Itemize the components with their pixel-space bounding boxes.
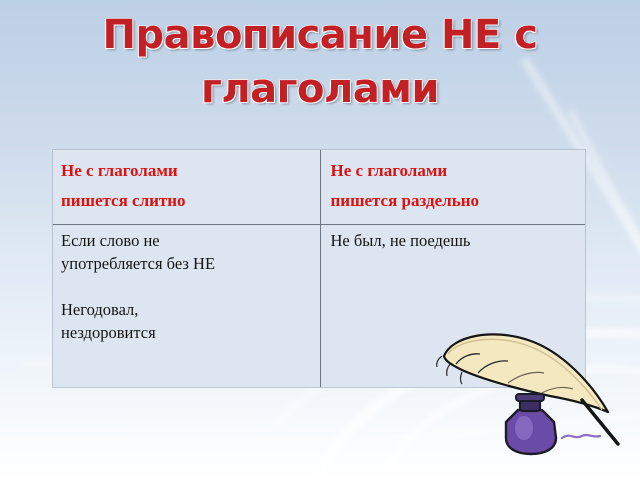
table-cell-text: Если слово не употребляется без НЕ Негод… bbox=[61, 229, 320, 344]
table-header-cell-razdelno: Не с глаголами пишется раздельно bbox=[320, 150, 585, 225]
comparison-table: Не с глаголами пишется слитно Не с глаго… bbox=[53, 150, 585, 387]
table-header-label: Не с глаголами пишется раздельно bbox=[331, 156, 586, 216]
feather-barb-icon bbox=[540, 387, 573, 394]
inkwell-icon bbox=[506, 410, 556, 454]
background-streak-icon bbox=[390, 404, 640, 444]
table-row: Если слово не употребляется без НЕ Негод… bbox=[53, 225, 585, 388]
table-cell-rule-razdelno: Не был, не поедешь bbox=[320, 225, 585, 388]
inkwell-highlight-icon bbox=[515, 416, 533, 440]
table-header-cell-slitno: Не с глаголами пишется слитно bbox=[53, 150, 320, 225]
inkwell-lip-icon bbox=[516, 394, 544, 401]
table-header-row: Не с глаголами пишется слитно Не с глаго… bbox=[53, 150, 585, 225]
slide-canvas: Правописание НЕ с глаголами Не с глагола… bbox=[0, 0, 640, 480]
quill-shaft-icon bbox=[582, 400, 618, 444]
table-cell-rule-slitno: Если слово не употребляется без НЕ Негод… bbox=[53, 225, 320, 388]
slide-title: Правописание НЕ с глаголами bbox=[0, 8, 640, 116]
table-cell-text: Не был, не поедешь bbox=[331, 229, 586, 252]
inkwell-neck-icon bbox=[520, 398, 540, 411]
table-header-label: Не с глаголами пишется слитно bbox=[61, 156, 320, 216]
ink-scribble-icon bbox=[562, 435, 600, 438]
